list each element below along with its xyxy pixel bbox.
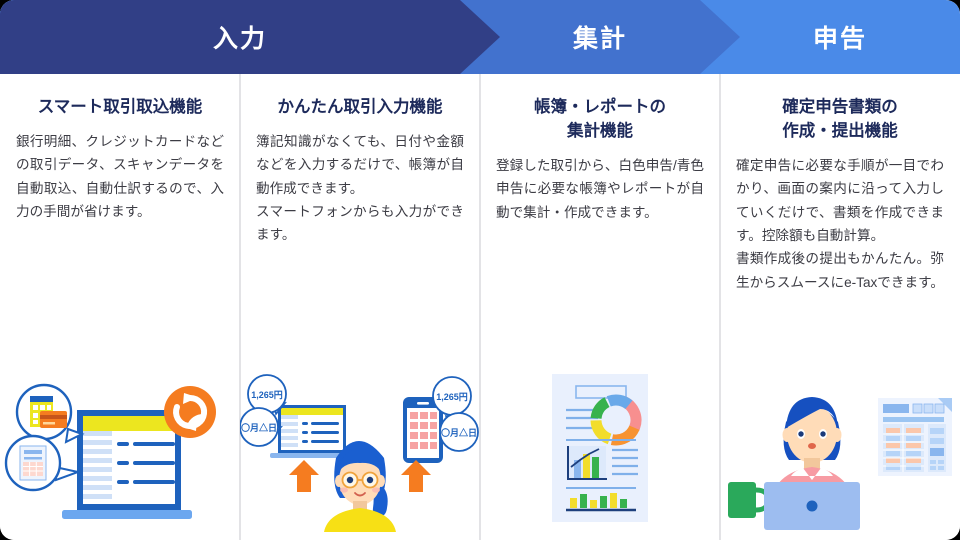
illustration-person-laptop-smartphone: 1,265円 〇月△日	[240, 372, 480, 532]
process-step-header: 入力 集計 申告	[0, 0, 960, 74]
feature-title-1: スマート取引取込機能	[16, 96, 224, 120]
feature-column-4: 確定申告書類の 作成・提出機能 確定申告に必要な手順が一目でわかり、画面の案内に…	[720, 74, 960, 540]
sync-icon	[164, 386, 216, 438]
illustration-person-laptop-taxform	[720, 372, 960, 532]
feature-body-3: 登録した取引から、白色申告/青色申告に必要な帳簿やレポートが自動で集計・作成でき…	[496, 154, 704, 224]
infographic-page: 入力 集計 申告 スマート取引取込機能 銀行明細、クレジットカードなどの取引デー…	[0, 0, 960, 540]
feature-title-3: 帳簿・レポートの 集計機能	[496, 96, 704, 144]
feature-columns: スマート取引取込機能 銀行明細、クレジットカードなどの取引データ、スキャンデータ…	[0, 74, 960, 540]
tax-form-document	[878, 398, 952, 476]
feature-body-4: 確定申告に必要な手順が一目でわかり、画面の案内に沿って入力していくだけで、書類を…	[736, 154, 944, 294]
mini-laptop	[270, 405, 354, 458]
feature-column-1: スマート取引取込機能 銀行明細、クレジットカードなどの取引データ、スキャンデータ…	[0, 74, 240, 540]
feature-column-3: 帳簿・レポートの 集計機能 登録した取引から、白色申告/青色申告に必要な帳簿やレ…	[480, 74, 720, 540]
feature-body-2: 簿記知識がなくても、日付や金額などを入力するだけで、帳簿が自動作成できます。 ス…	[256, 130, 464, 247]
bubble-amount-left-text: 1,265円	[251, 390, 283, 400]
step-label-input: 入力	[0, 0, 480, 74]
step-label-aggregate: 集計	[480, 0, 720, 74]
feature-title-2: かんたん取引入力機能	[256, 96, 464, 120]
bubble-date-left-text: 〇月△日	[241, 422, 277, 433]
bubble-date-right-text: 〇月△日	[441, 427, 477, 438]
combo-chart	[568, 446, 607, 479]
feature-title-4: 確定申告書類の 作成・提出機能	[736, 96, 944, 144]
coffee-mug	[728, 482, 768, 518]
laptop-front	[764, 482, 860, 530]
illustration-report-document-charts	[480, 372, 720, 532]
illustration-laptop-auto-import	[0, 372, 240, 532]
step-label-file: 申告	[720, 0, 960, 74]
bubble-amount-right-text: 1,265円	[436, 392, 468, 402]
feature-column-2: かんたん取引入力機能 簿記知識がなくても、日付や金額などを入力するだけで、帳簿が…	[240, 74, 480, 540]
feature-body-1: 銀行明細、クレジットカードなどの取引データ、スキャンデータを自動取込、自動仕訳す…	[16, 130, 224, 224]
